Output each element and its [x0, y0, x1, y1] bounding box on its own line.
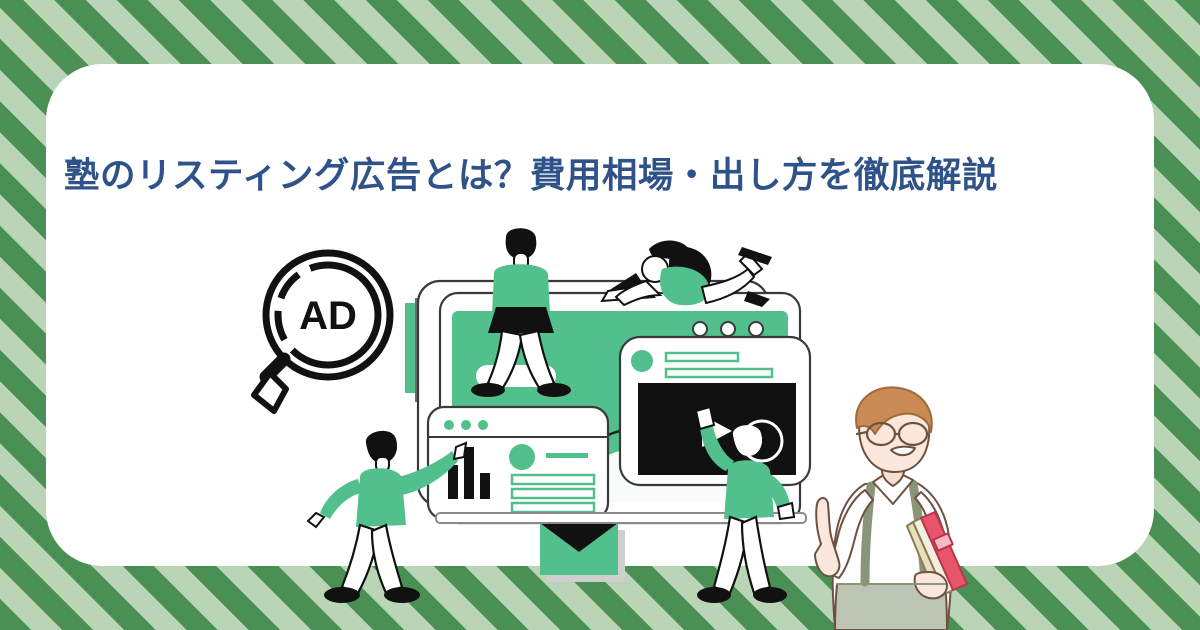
video-avatar — [631, 350, 653, 372]
og-image-canvas: 塾のリスティング広告とは？費用相場・出し方を徹底解説 AD — [0, 0, 1200, 630]
page-title: 塾のリスティング広告とは？費用相場・出し方を徹底解説 — [64, 152, 1144, 199]
person-lying-laptop — [602, 240, 772, 307]
ad-label: AD — [299, 294, 357, 338]
panel-dots — [444, 420, 488, 430]
teacher-figure — [795, 380, 1015, 630]
window-dots — [693, 322, 763, 336]
avatar — [509, 444, 535, 470]
envelope-icon — [540, 523, 625, 582]
panel-rows — [512, 475, 594, 512]
